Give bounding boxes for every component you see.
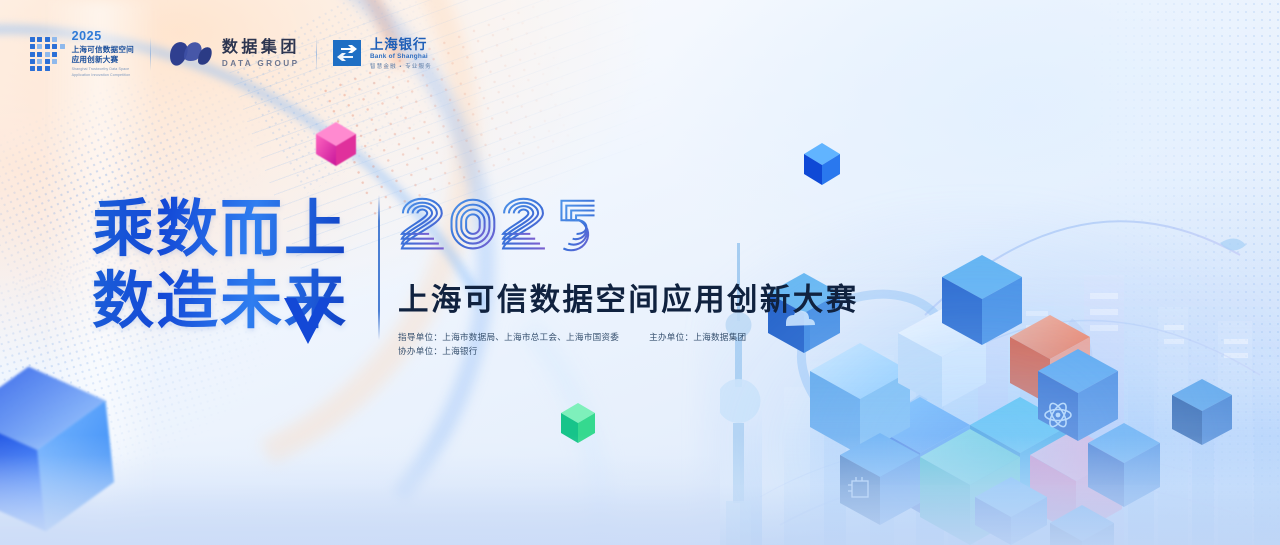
bank-of-shanghai-logo: 上海银行 Bank of Shanghai 智慧金融 • 专业服务 — [333, 38, 432, 71]
competition-logo-cn-2: 应用创新大赛 — [72, 55, 134, 65]
banner-root: 2025 上海可信数据空间 应用创新大赛 Shanghai Trustworth… — [0, 0, 1280, 545]
bank-of-shanghai-tagline: 智慧金融 • 专业服务 — [370, 65, 432, 71]
competition-logo-en-2: Application Innovation Competition — [72, 73, 134, 78]
competition-logo-year: 2025 — [72, 30, 134, 43]
slogan-line-1: 乘数而上 — [92, 196, 348, 262]
year-2025-graphic — [398, 192, 602, 264]
credit-host: 主办单位：上海数据集团 — [649, 331, 746, 345]
bank-of-shanghai-cn: 上海银行 — [370, 38, 432, 52]
title-block: 上海可信数据空间应用创新大赛 指导单位：上海市数据局、上海市总工会、上海市国资委… — [398, 192, 859, 359]
logo-divider-2 — [316, 37, 317, 71]
bank-of-shanghai-en: Bank of Shanghai — [370, 54, 432, 60]
competition-logo: 2025 上海可信数据空间 应用创新大赛 Shanghai Trustworth… — [30, 30, 134, 78]
year-digits — [402, 199, 595, 250]
credits-row-2: 协办单位：上海银行 — [398, 345, 859, 359]
competition-logo-en-1: Shanghai Trustworthy Data Space — [72, 67, 134, 72]
header-logos: 2025 上海可信数据空间 应用创新大赛 Shanghai Trustworth… — [30, 30, 432, 78]
credit-guidance: 指导单位：上海市数据局、上海市总工会、上海市国资委 — [398, 331, 619, 345]
slogan-check-accent-icon — [278, 292, 338, 350]
floating-cube-blue — [800, 140, 844, 188]
data-group-logo: 数据集团 DATA GROUP — [167, 39, 300, 69]
credits-row-1: 指导单位：上海市数据局、上海市总工会、上海市国资委 主办单位：上海数据集团 — [398, 331, 859, 345]
data-group-en: DATA GROUP — [222, 60, 300, 68]
headline-divider — [378, 195, 380, 340]
competition-logo-cn-1: 上海可信数据空间 — [72, 45, 134, 55]
bank-of-shanghai-mark-icon — [333, 38, 363, 68]
data-group-mark-icon — [167, 39, 213, 69]
pixel-grid-icon — [30, 37, 65, 72]
credits-block: 指导单位：上海市数据局、上海市总工会、上海市国资委 主办单位：上海数据集团 协办… — [398, 331, 859, 359]
floating-cube-pink — [312, 118, 360, 170]
logo-divider-1 — [150, 37, 151, 71]
credit-coorganizer: 协办单位：上海银行 — [398, 345, 478, 359]
competition-title: 上海可信数据空间应用创新大赛 — [398, 275, 859, 319]
main-slogan: 乘数而上 数造未来 — [92, 196, 348, 333]
ground-haze-left — [0, 455, 720, 545]
data-group-cn: 数据集团 — [222, 40, 300, 56]
